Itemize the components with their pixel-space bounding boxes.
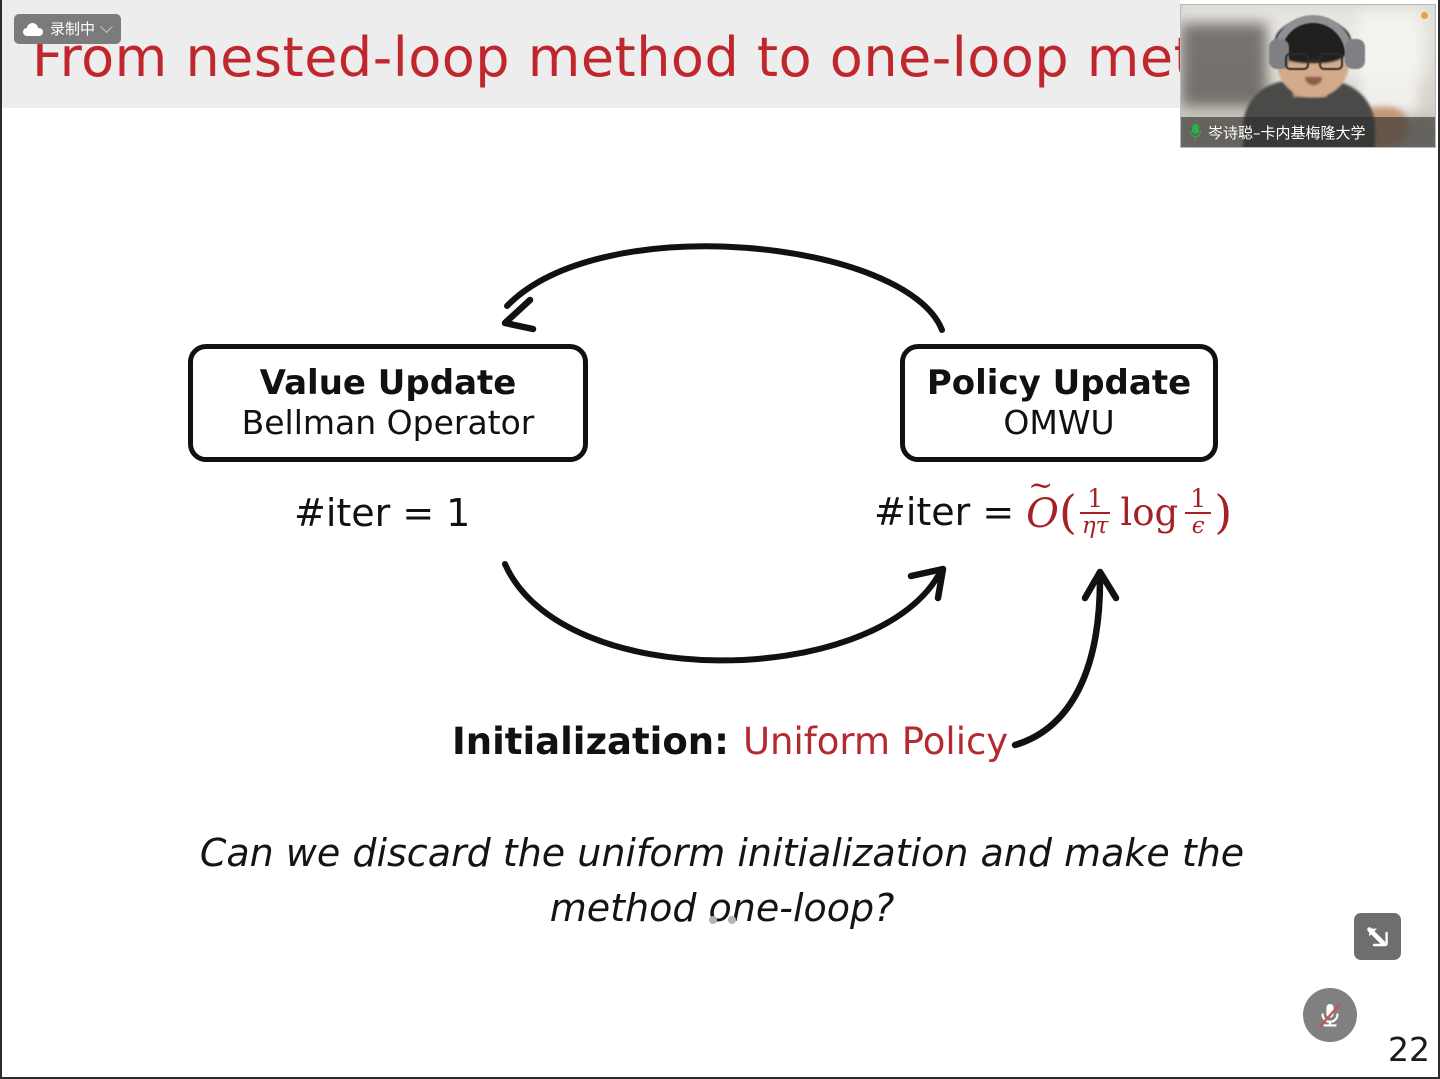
microphone-icon — [1189, 124, 1202, 141]
exit-fullscreen-icon — [1364, 923, 1392, 951]
arrow-policy-to-value — [507, 246, 942, 330]
equals-sign: = — [982, 490, 1014, 534]
node-title: Value Update — [260, 365, 517, 402]
initialization-value: Uniform Policy — [743, 720, 1008, 763]
big-o-notation: ~ O — [1026, 487, 1059, 537]
initialization-line: Initialization:Uniform Policy — [452, 720, 1008, 763]
page-title: From nested-loop method to one-loop meth… — [32, 26, 1298, 89]
arrow-initialization-to-policy — [1015, 580, 1100, 745]
page-number: 22 — [1388, 1030, 1430, 1069]
participant-nameplate: 岑诗聪–卡内基梅隆大学 — [1181, 117, 1435, 147]
microphone-muted-icon — [1313, 998, 1347, 1032]
cloud-icon — [23, 23, 43, 36]
presentation-window: From nested-loop method to one-loop meth… — [0, 0, 1440, 1079]
iter-label: #iter — [874, 490, 970, 534]
initialization-label: Initialization — [452, 720, 714, 763]
chevron-down-icon[interactable] — [100, 20, 113, 33]
fraction-one-over-epsilon: 1 ϵ — [1185, 486, 1211, 538]
slide-content: Value Update Bellman Operator Policy Upd… — [2, 108, 1438, 1079]
iter-value: 1 — [446, 491, 470, 535]
arrow-value-to-policy — [505, 564, 938, 660]
pagination-dots — [2, 916, 1440, 924]
fraction-denominator: ϵ — [1190, 514, 1207, 538]
pagination-dot — [709, 916, 717, 924]
participant-video-tile[interactable]: 岑诗聪–卡内基梅隆大学 — [1180, 4, 1436, 148]
fraction-numerator: 1 — [1085, 486, 1105, 512]
node-title: Policy Update — [927, 365, 1191, 402]
log-operator: log — [1120, 491, 1178, 534]
iter-label: #iter — [294, 491, 390, 535]
fraction-one-over-eta-tau: 1 ητ — [1080, 486, 1111, 538]
recording-dot-icon — [1421, 12, 1428, 19]
node-value-update: Value Update Bellman Operator — [188, 344, 588, 462]
initialization-colon: : — [714, 720, 729, 763]
node-policy-update: Policy Update OMWU — [900, 344, 1218, 462]
arrowhead-policy-to-value — [505, 300, 533, 329]
recording-label: 录制中 — [50, 22, 95, 37]
node-subtitle: Bellman Operator — [242, 404, 535, 442]
node-subtitle: OMWU — [1003, 404, 1114, 442]
close-paren: ) — [1214, 489, 1232, 535]
mute-status-indicator[interactable] — [1303, 988, 1357, 1042]
fraction-numerator: 1 — [1188, 486, 1208, 512]
open-paren: ( — [1059, 489, 1077, 535]
recording-badge[interactable]: 录制中 — [14, 14, 121, 44]
pagination-dot — [728, 916, 736, 924]
iteration-count-value: #iter = 1 — [294, 491, 470, 535]
equals-sign: = — [402, 491, 434, 535]
iteration-count-policy: #iter = ~ O ( 1 ητ log 1 ϵ ) — [874, 486, 1232, 538]
fraction-denominator: ητ — [1080, 514, 1111, 538]
exit-fullscreen-button[interactable] — [1354, 913, 1401, 960]
arrowhead-initialization — [1085, 572, 1116, 598]
participant-name: 岑诗聪–卡内基梅隆大学 — [1208, 122, 1366, 143]
arrowhead-value-to-policy — [911, 569, 943, 598]
tilde-accent: ~ — [1028, 471, 1053, 501]
